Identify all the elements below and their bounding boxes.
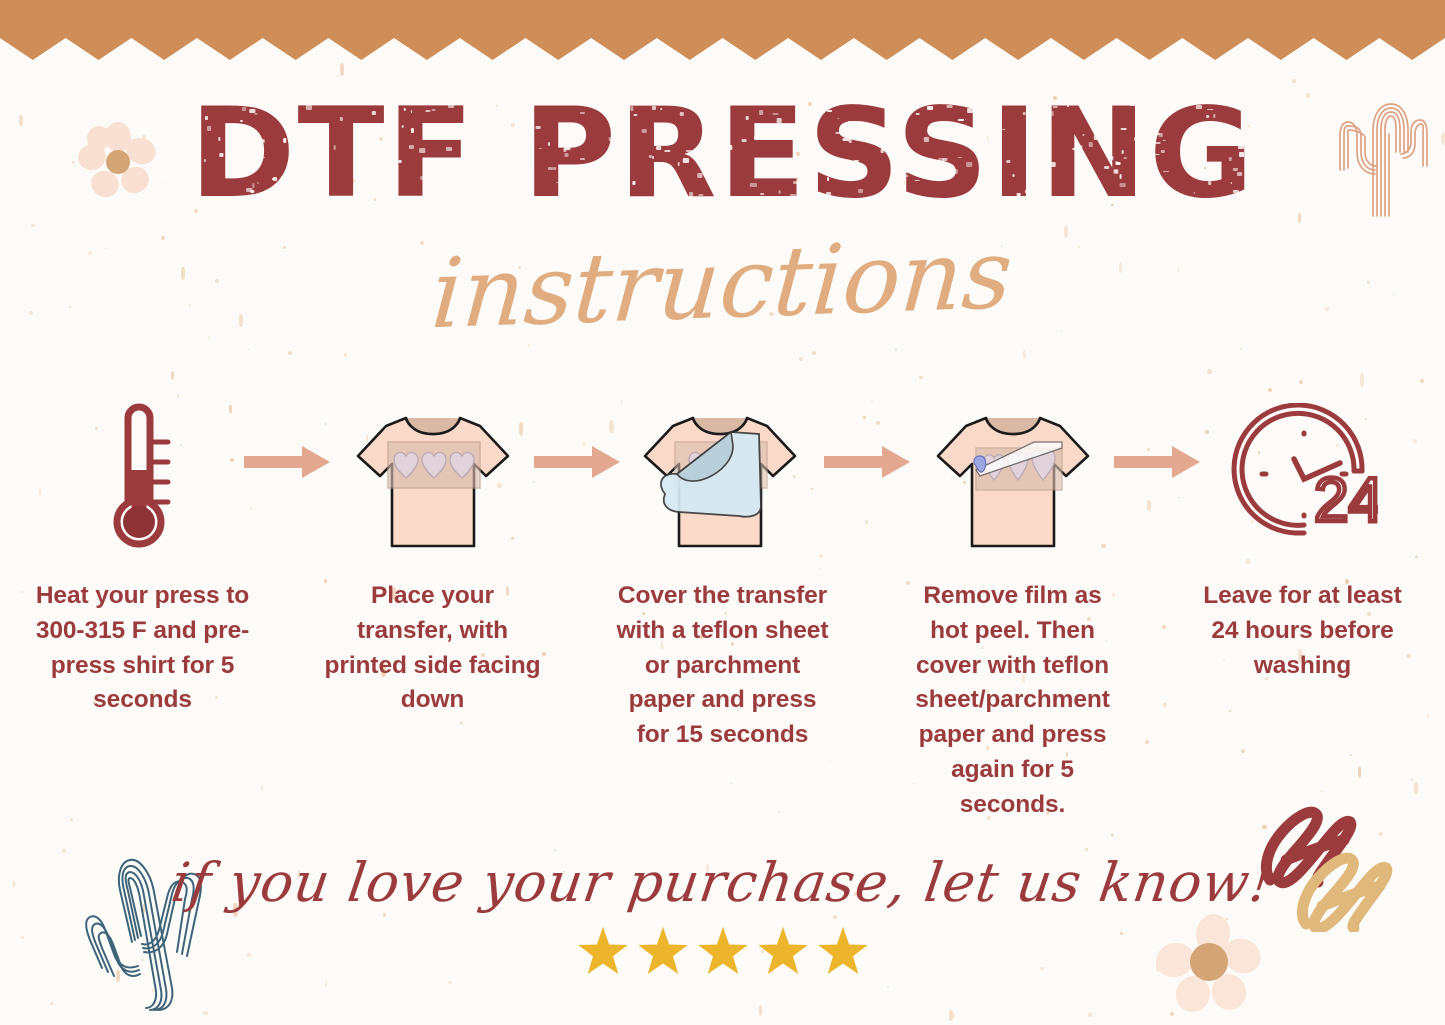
step-4: Remove film as hot peel. Then cover with… [913,390,1113,822]
title-grain [972,139,974,143]
title-grain [699,194,704,196]
title-grain [1151,162,1155,167]
step-5-icon-wrap: 24 [1228,390,1378,565]
title-grain [1160,150,1165,154]
title-grain [1243,126,1249,131]
title-grain [1195,105,1202,110]
title-grain [886,126,890,128]
title-grain [479,150,482,154]
title-grain [1099,119,1102,122]
title-grain [827,110,832,112]
arrow-2 [533,390,623,479]
title-grain [608,137,614,141]
title-grain [1130,104,1136,106]
title-grain [411,128,415,133]
top-zigzag-band [0,0,1445,60]
clock-24-icon: 24 [1228,403,1378,553]
title-grain [800,172,802,177]
title-grain [853,160,859,162]
title-grain [827,177,829,181]
title-grain [700,93,703,96]
title-grain [1230,182,1232,184]
title-grain [759,110,763,115]
title-grain [934,93,940,97]
title-grain [1248,188,1254,190]
title-grain [783,96,785,100]
title-grain [222,97,227,100]
title-grain [741,139,747,142]
title-grain [1016,193,1020,196]
title-grain [886,133,892,138]
title-grain [228,154,232,159]
title-grain [262,157,264,158]
title-grain [273,177,277,181]
title-grain [1229,157,1232,161]
title-grain [464,165,470,168]
title-grain [556,182,560,184]
title-grain [510,116,516,117]
title-grain [480,192,487,196]
title-grain [240,120,244,122]
title-grain [610,169,613,173]
title-grain [1193,192,1195,194]
title-grain [548,142,550,146]
title-grain [1134,137,1138,142]
title-grain [711,185,714,186]
title-grain [1029,153,1032,156]
title-grain [689,192,693,197]
title-grain [797,163,799,167]
title-grain [1244,150,1247,153]
title-grain [614,100,620,104]
title-grain [656,146,661,151]
title-grain [712,103,714,107]
title-grain [1233,168,1238,171]
poster-subtitle-container: instructions [0,236,1445,332]
title-grain [1049,162,1056,167]
title-grain [479,96,483,101]
title-grain [1238,145,1244,149]
title-grain [996,139,1001,144]
arrow-right-icon [534,445,622,479]
title-grain [1104,166,1109,169]
title-grain [1093,135,1099,140]
title-grain [1250,114,1255,118]
title-grain [281,176,284,178]
star-rating [0,925,1445,984]
title-grain [678,162,680,166]
title-grain [485,105,492,110]
step-2: Place your transfer, with printed side f… [333,390,533,718]
title-grain [506,146,508,149]
title-grain [526,116,532,120]
title-grain [907,172,909,173]
title-grain [652,156,654,159]
title-grain [683,158,689,163]
title-grain [790,194,796,198]
title-grain [848,121,852,123]
title-grain [1159,133,1163,137]
title-grain [1146,149,1152,154]
title-grain [234,136,238,141]
title-grain [665,134,670,136]
title-grain [404,108,406,111]
title-grain [837,118,839,120]
title-grain [642,129,647,133]
title-grain [858,189,864,193]
title-grain [1092,123,1098,125]
title-grain [250,190,254,193]
arrow-right-icon [244,445,332,479]
title-grain [1153,133,1159,135]
step-3: Cover the transfer with a teflon sheet o… [623,390,823,753]
tshirt-transfer-icon [348,398,518,558]
title-grain [364,134,368,137]
title-grain [686,150,693,151]
title-grain [467,152,471,154]
steps-row: Heat your press to 300-315 F and pre-pre… [0,390,1445,830]
title-grain [1264,179,1269,181]
title-grain [257,93,263,96]
title-grain [880,102,884,105]
title-grain [255,113,258,115]
star-icon [756,925,810,979]
title-grain [510,189,514,192]
title-grain [759,193,763,195]
title-grain [1262,107,1267,112]
title-grain [1041,101,1046,103]
title-grain [773,167,775,172]
title-grain [1206,115,1209,119]
title-grain [521,146,525,148]
title-grain [1040,193,1045,196]
page-subtitle: instructions [429,226,1015,343]
title-grain [231,172,235,176]
title-grain [320,138,324,140]
title-grain [1092,108,1098,111]
title-grain [321,152,325,155]
title-grain [695,105,697,107]
title-grain [659,179,661,183]
title-grain [1266,193,1268,196]
tshirt-peel-film-icon [928,398,1098,558]
title-grain [1237,172,1242,176]
title-grain [585,190,590,192]
title-grain [808,165,811,169]
title-grain [524,138,527,140]
page-title: DTF PRESSING [189,92,1255,216]
title-grain [1247,131,1250,134]
title-grain [504,184,506,189]
title-grain [478,184,484,188]
title-grain [1123,157,1127,160]
title-grain [204,116,208,120]
title-grain [364,171,371,176]
title-grain [1199,146,1204,149]
title-grain [1208,181,1211,185]
title-grain [430,127,437,131]
title-grain [1086,104,1091,105]
title-grain [283,138,287,143]
title-grain [535,126,540,130]
title-grain [402,125,404,128]
title-grain [500,94,502,96]
title-grain [965,119,967,120]
title-grain [303,166,307,168]
title-grain [750,183,757,188]
title-grain [953,169,958,174]
title-grain [746,116,749,120]
title-grain [946,105,952,108]
title-grain [525,126,529,129]
title-grain [895,121,897,123]
title-grain [707,121,711,122]
title-grain [431,109,435,111]
title-grain [464,138,467,140]
title-grain [1154,142,1160,144]
title-grain [1072,148,1076,150]
title-grain [1089,142,1093,147]
title-grain [522,117,525,119]
title-grain [552,167,556,170]
tagline-container: if you love your purchase, let us know! [0,856,1445,910]
title-grain [979,97,983,100]
title-grain [517,192,523,195]
step-3-icon-wrap [635,390,810,565]
title-grain [389,115,392,118]
title-grain [366,129,371,131]
title-grain [848,138,852,143]
title-grain [233,101,237,105]
title-grain [632,181,636,185]
step-5-text: Leave for at least 24 hours before washi… [1194,579,1412,683]
star-icon [576,925,630,979]
title-grain [815,153,819,157]
title-grain [1276,156,1280,159]
title-grain [728,145,733,150]
title-grain [664,150,670,152]
title-grain [633,114,637,117]
step-1: Heat your press to 300-315 F and pre-pre… [43,390,243,718]
title-grain [558,93,562,95]
title-grain [924,137,928,142]
title-grain [376,151,379,154]
title-grain [410,110,412,113]
title-grain [385,118,389,120]
title-grain [499,128,505,133]
step-4-text: Remove film as hot peel. Then cover with… [904,579,1122,822]
title-grain [826,192,831,195]
title-grain [903,103,907,106]
title-grain [1077,145,1082,150]
title-grain [1082,134,1084,136]
title-grain [1134,99,1140,103]
title-grain [220,153,224,157]
title-grain [967,108,973,113]
title-grain [731,95,734,97]
title-grain [483,153,486,156]
title-grain [376,136,378,138]
title-grain [419,148,425,153]
step-4-icon-wrap [928,390,1098,565]
title-grain [715,105,720,110]
title-grain [1121,150,1123,154]
title-grain [450,136,456,139]
title-grain [426,110,430,112]
title-grain [885,139,888,142]
title-grain [622,116,625,118]
title-grain [885,150,887,152]
title-grain [997,190,1000,194]
title-grain [510,180,517,185]
title-grain [398,160,402,163]
title-grain [368,192,372,195]
title-grain [1204,172,1210,177]
title-grain [1213,114,1215,119]
title-grain [1233,190,1239,194]
title-grain [1067,105,1070,108]
title-grain [1239,152,1244,157]
title-grain [957,119,963,121]
title-grain [420,176,423,179]
title-grain [445,147,452,151]
title-grain [424,193,429,197]
title-grain [963,142,965,146]
title-grain [1096,103,1101,106]
title-grain [206,126,210,131]
title-grain [1119,183,1125,187]
title-grain [1086,106,1092,108]
title-grain [1224,135,1230,140]
star-icon [696,925,750,979]
title-grain [1155,154,1160,156]
title-grain [333,145,336,150]
title-grain [1002,129,1005,131]
title-grain [1135,175,1137,178]
title-grain [1006,160,1010,163]
title-grain [367,181,369,184]
title-grain [557,98,562,103]
title-grain [565,147,571,150]
title-grain [1013,174,1015,177]
arrow-1 [243,390,333,479]
title-grain [471,110,478,112]
title-grain [385,124,388,126]
title-grain [252,183,254,188]
title-grain [1265,95,1269,99]
title-grain [306,105,312,110]
poster-canvas: DTF PRESSING instructions Heat your pres… [0,0,1445,1025]
title-grain [366,102,371,105]
title-grain [917,159,921,163]
step-1-text: Heat your press to 300-315 F and pre-pre… [34,579,252,718]
title-grain [897,134,904,137]
title-grain [368,148,373,150]
title-grain [794,113,796,116]
thermometer-icon [88,398,198,558]
title-grain [904,175,909,177]
title-grain [502,108,506,111]
title-grain [1199,151,1204,156]
title-grain [1157,110,1160,115]
title-grain [387,189,389,191]
title-grain [548,167,552,170]
title-grain [974,145,978,148]
title-grain [1108,156,1113,161]
title-grain [468,171,473,175]
tshirt-covered-sheet-icon [635,398,810,558]
title-grain [1053,106,1058,108]
title-grain [660,188,666,193]
title-grain [340,117,343,121]
title-grain [631,106,634,111]
poster-title-container: DTF PRESSING [0,92,1445,216]
title-grain [761,167,766,169]
title-grain [1046,97,1050,101]
title-grain [966,162,973,167]
arrow-right-icon [1114,445,1202,479]
title-grain [604,168,610,170]
title-grain [1210,173,1214,177]
title-grain [445,92,447,95]
arrow-4 [1113,390,1203,479]
title-grain [539,148,542,149]
title-grain [425,183,428,186]
title-grain [457,98,460,101]
title-grain [880,149,883,153]
title-grain [778,164,780,165]
title-grain [705,168,707,173]
title-grain [372,168,379,172]
title-grain [928,128,930,132]
title-grain [218,137,220,141]
title-grain [1257,163,1263,164]
title-grain [778,190,780,193]
title-grain [1115,170,1118,173]
title-grain [892,162,898,164]
title-grain [1279,124,1281,127]
title-grain [580,158,585,160]
star-icon [636,925,690,979]
title-grain [463,132,468,135]
clock-24-label: 24 [1314,466,1378,535]
title-grain [927,106,933,110]
title-grain [1163,171,1169,172]
step-3-text: Cover the transfer with a teflon sheet o… [614,579,832,753]
title-grain [1022,112,1025,115]
title-grain [833,105,835,107]
title-grain [914,180,920,182]
title-grain [580,112,585,114]
title-grain [957,157,961,158]
title-grain [524,187,526,190]
title-grain [262,139,265,144]
title-grain [1024,190,1030,193]
title-grain [793,181,799,184]
step-1-icon-wrap [88,390,198,565]
title-grain [1207,109,1213,111]
title-grain [225,124,227,129]
title-grain [1247,179,1251,181]
title-grain [563,172,567,176]
title-grain [754,136,757,139]
title-grain [1163,140,1166,142]
title-grain [453,187,458,189]
title-grain [835,92,840,97]
step-5: 24 Leave for at least 24 hours before wa… [1203,390,1403,683]
title-grain [1239,102,1244,105]
title-grain [230,164,234,167]
